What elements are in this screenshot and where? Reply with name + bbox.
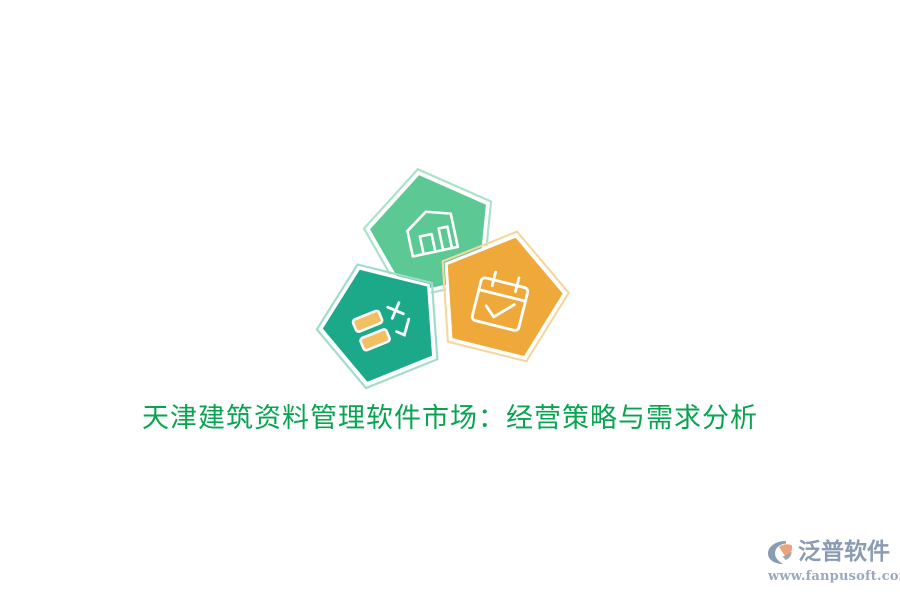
pentagon-cluster-graphic [300,160,580,380]
page-title: 天津建筑资料管理软件市场：经营策略与需求分析 [0,400,900,438]
logo-row: 泛普软件 [766,536,892,568]
logo-url-text: www.fanpusoft.com [768,569,892,584]
brand-logo: 泛普软件 www.fanpusoft.com [766,536,892,588]
fanpu-swoosh-logo-icon [766,538,796,566]
logo-brand-text: 泛普软件 [798,538,890,566]
cover-page: 天津建筑资料管理软件市场：经营策略与需求分析 泛普软件 www.fanpusof… [0,0,900,600]
pentagon-left-teal [308,258,453,388]
